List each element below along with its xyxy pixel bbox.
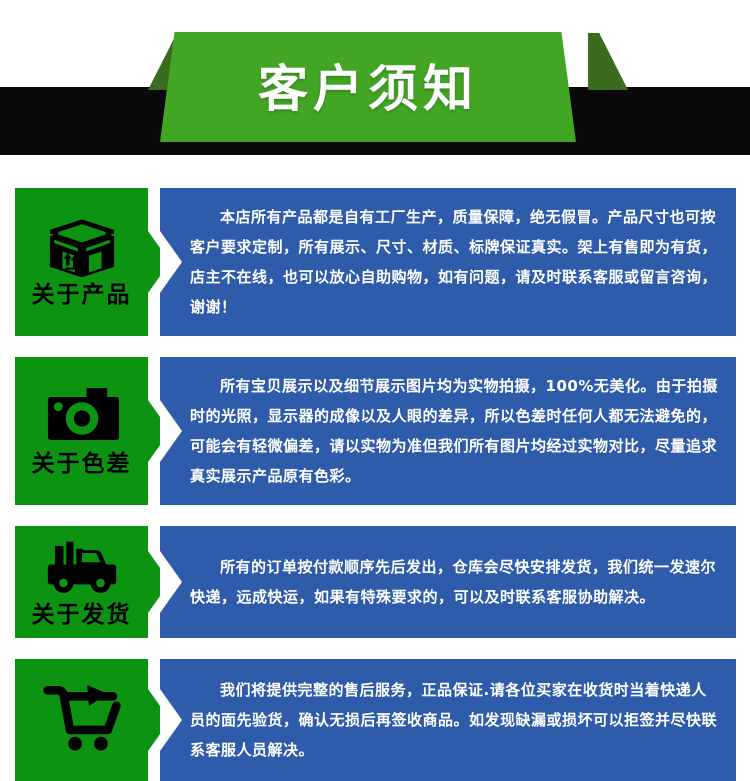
notice-row: 关于发货 所有的订单按付款顺序先后发出，仓库会尽快安排发货，我们统一发速尔快递，…	[0, 526, 750, 638]
section-icon-tile-product[interactable]: 关于产品	[15, 188, 148, 336]
camera-icon	[45, 387, 119, 447]
section-body: 所有的订单按付款顺序先后发出，仓库会尽快安排发货，我们统一发速尔快递，远成快运，…	[160, 538, 736, 626]
notice-row: 关于产品 本店所有产品都是自有工厂生产，质量保障，绝无假冒。产品尺寸也可按客户要…	[0, 188, 750, 336]
section-label: 关于发货	[32, 604, 132, 627]
section-text-panel-product: 本店所有产品都是自有工厂生产，质量保障，绝无假冒。产品尺寸也可按客户要求定制，所…	[160, 188, 736, 336]
notice-sections: 关于产品 本店所有产品都是自有工厂生产，质量保障，绝无假冒。产品尺寸也可按客户要…	[0, 160, 750, 781]
section-label: 关于产品	[32, 284, 132, 307]
forklift-truck-icon	[45, 538, 119, 598]
banner-ribbon: 客户须知	[160, 32, 576, 142]
section-text-panel-color: 所有宝贝展示以及细节展示图片均为实物拍摄，100%无美化。由于拍摄时的光照，显示…	[160, 357, 736, 505]
banner-fold-right	[588, 33, 628, 90]
page-banner: 客户须知	[0, 0, 750, 160]
section-body: 我们将提供完整的售后服务，正品保证.请各位买家在收货时当着快递人员的面先验货，确…	[160, 661, 736, 779]
section-body: 本店所有产品都是自有工厂生产，质量保障，绝无假冒。产品尺寸也可按客户要求定制，所…	[160, 188, 736, 336]
section-icon-tile-color[interactable]: 关于色差	[15, 357, 148, 505]
section-text-panel-shipping: 所有的订单按付款顺序先后发出，仓库会尽快安排发货，我们统一发速尔快递，远成快运，…	[160, 526, 736, 638]
notice-row: 我们将提供完整的售后服务，正品保证.请各位买家在收货时当着快递人员的面先验货，确…	[0, 659, 750, 781]
notice-row: 关于色差 所有宝贝展示以及细节展示图片均为实物拍摄，100%无美化。由于拍摄时的…	[0, 357, 750, 505]
section-text-panel-aftersales: 我们将提供完整的售后服务，正品保证.请各位买家在收货时当着快递人员的面先验货，确…	[160, 659, 736, 781]
carton-box-icon	[45, 218, 119, 278]
section-body: 所有宝贝展示以及细节展示图片均为实物拍摄，100%无美化。由于拍摄时的光照，显示…	[160, 357, 736, 505]
section-label: 关于色差	[32, 453, 132, 476]
section-icon-tile-shipping[interactable]: 关于发货	[15, 526, 148, 638]
return-cart-icon	[39, 680, 125, 754]
section-icon-tile-aftersales[interactable]	[15, 659, 148, 781]
page-title: 客户须知	[258, 64, 478, 114]
